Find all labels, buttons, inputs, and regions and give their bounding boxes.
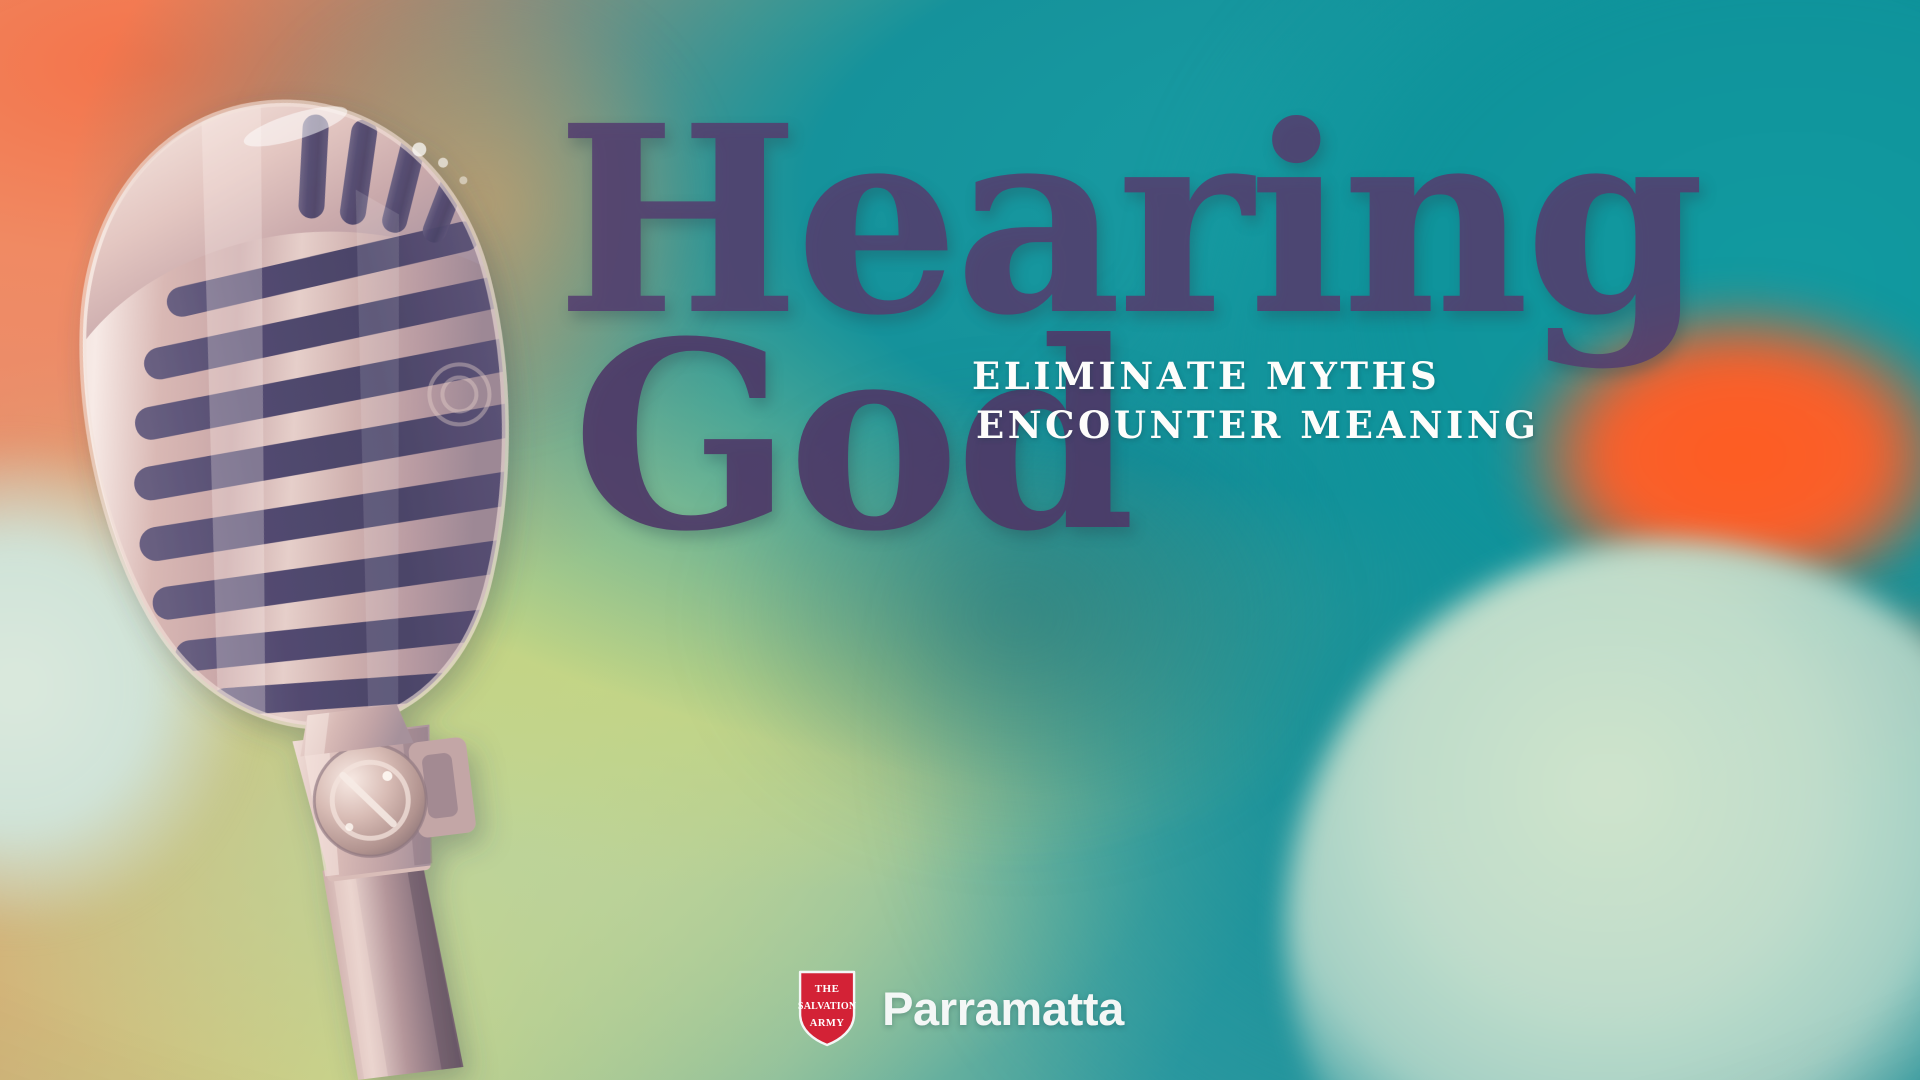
shield-text-the: THE bbox=[815, 983, 840, 995]
shield-text-army: ARMY bbox=[810, 1018, 845, 1029]
mic-stand bbox=[321, 849, 463, 1080]
promo-poster: Hearing God Eliminate Myths Encounter Me… bbox=[0, 0, 1920, 1080]
shield-text-salvation: SALVATION bbox=[798, 1001, 857, 1012]
brand-lockup: THE SALVATION ARMY Parramatta bbox=[796, 968, 1124, 1048]
salvation-army-shield-icon: THE SALVATION ARMY bbox=[796, 968, 858, 1048]
corps-name: Parramatta bbox=[882, 981, 1124, 1036]
vintage-microphone-icon bbox=[42, 76, 602, 1080]
mic-head bbox=[36, 76, 570, 754]
